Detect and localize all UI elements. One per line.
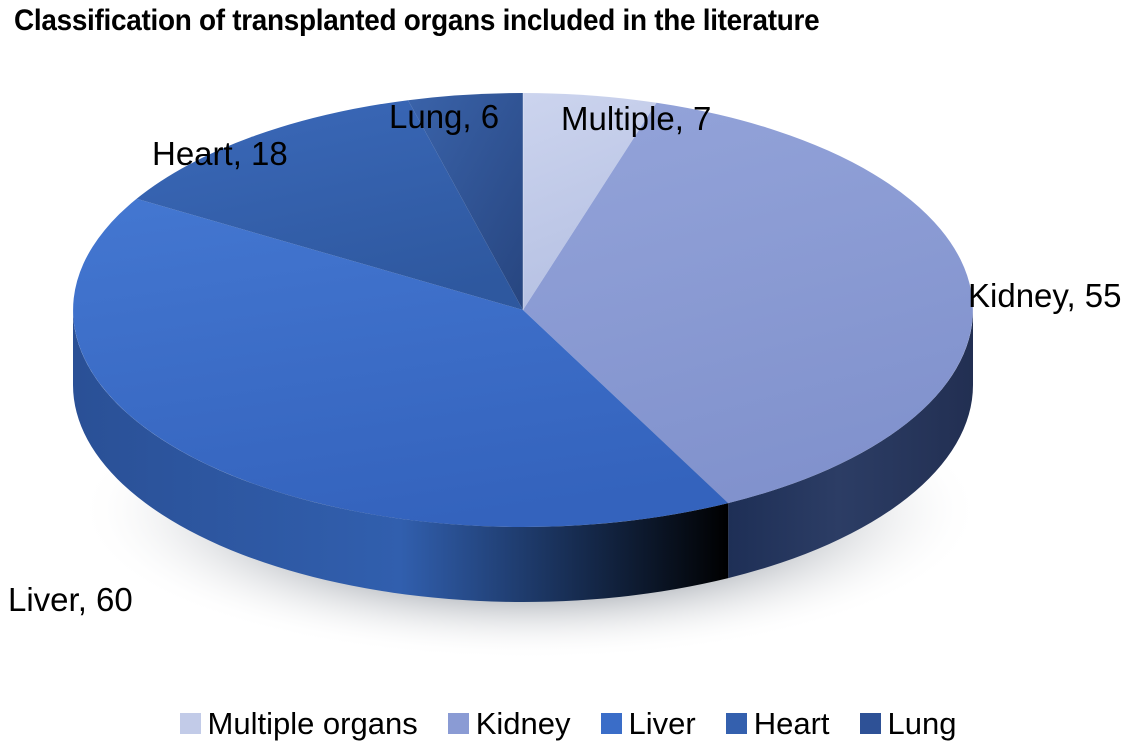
page-title: Classification of transplanted organs in…: [14, 4, 819, 38]
legend-swatch-heart: [726, 713, 747, 734]
legend-label-heart: Heart: [754, 708, 830, 739]
legend-label-liver: Liver: [629, 708, 696, 739]
data-label-heart: Heart, 18: [152, 137, 288, 170]
legend-label-multiple-organs: Multiple organs: [208, 708, 418, 739]
legend-label-kidney: Kidney: [476, 708, 571, 739]
data-label-liver: Liver, 60: [8, 583, 133, 616]
legend-swatch-lung: [860, 713, 881, 734]
data-label-multiple: Multiple, 7: [561, 102, 711, 135]
legend-item-multiple-organs[interactable]: Multiple organs: [180, 708, 418, 739]
legend-item-liver[interactable]: Liver: [601, 708, 696, 739]
data-label-kidney: Kidney, 55: [968, 279, 1122, 312]
legend-swatch-liver: [601, 713, 622, 734]
legend-label-lung: Lung: [888, 708, 957, 739]
legend-item-heart[interactable]: Heart: [726, 708, 830, 739]
data-label-lung: Lung, 6: [389, 100, 499, 133]
legend-item-lung[interactable]: Lung: [860, 708, 957, 739]
legend-item-kidney[interactable]: Kidney: [448, 708, 571, 739]
legend-swatch-kidney: [448, 713, 469, 734]
legend-swatch-multiple-organs: [180, 713, 201, 734]
pie-chart-figure: Lung, 6 Multiple, 7 Heart, 18 Kidney, 55…: [0, 40, 1136, 660]
chart-legend: Multiple organs Kidney Liver Heart Lung: [0, 700, 1136, 746]
